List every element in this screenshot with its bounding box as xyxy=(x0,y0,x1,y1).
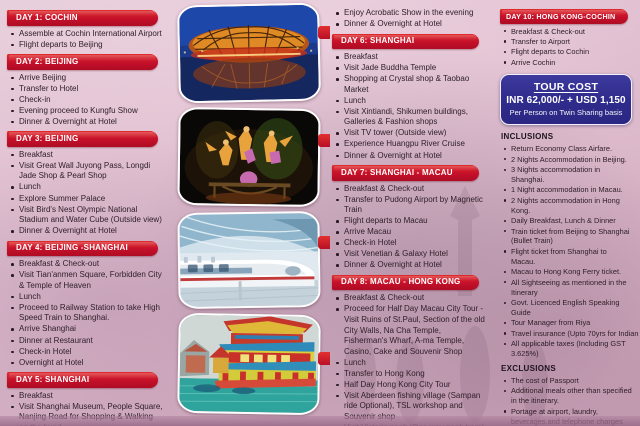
list-item: Travel insurance (Upto 70yrs for Indian … xyxy=(500,329,632,339)
list-item: Breakfast & Check-out xyxy=(500,27,632,37)
list-item: Transfer to Hotel xyxy=(6,84,164,95)
day-block: DAY 1: COCHIN Assemble at Cochin Interna… xyxy=(6,10,166,50)
list-item: Daily Breakfast, Lunch & Dinner xyxy=(500,216,632,226)
right-column: DAY 10: HONG KONG-COCHIN Breakfast & Che… xyxy=(494,0,640,426)
day-block: DAY 8: MACAU - HONG KONG Breakfast & Che… xyxy=(331,275,487,426)
day-banner: DAY 10: HONG KONG-COCHIN xyxy=(500,9,628,24)
day-banner: DAY 2: BEIJING xyxy=(7,54,158,70)
middle-column: Enjoy Acrobatic Show in the evening Dinn… xyxy=(325,0,493,426)
bottom-edge-band xyxy=(0,416,640,426)
list-item: Breakfast xyxy=(6,150,164,161)
list-item: Flight departs to Beijing xyxy=(6,40,164,51)
list-item: Arrive Macau xyxy=(331,227,485,238)
list-item: Experience Huangpu River Cruise xyxy=(331,139,485,150)
list-item: Lunch xyxy=(331,96,485,107)
list-item: Proceed for Half Day Macau City Tour - V… xyxy=(331,304,485,357)
list-item: Dinner & Overnight at Hotel xyxy=(331,19,485,30)
list-item: Breakfast xyxy=(331,52,485,63)
day-banner: DAY 3: BEIJING xyxy=(7,131,158,147)
list-item: Additional meals other than specified in… xyxy=(500,386,632,406)
list-item: Lunch xyxy=(6,292,164,303)
list-item: Transfer to Pudong Airport by Magnetic T… xyxy=(331,195,485,216)
list-item: All applicable taxes (Including GST 3.62… xyxy=(500,339,632,359)
day-item-list: Breakfast Visit Great Wall Juyong Pass, … xyxy=(6,150,164,237)
list-item: Assemble at Cochin International Airport xyxy=(6,29,164,40)
list-item: Breakfast & Check-out xyxy=(331,184,485,195)
day-banner: DAY 8: MACAU - HONG KONG xyxy=(332,275,479,291)
tour-cost-box: TOUR COST INR 62,000/- + USD 1,150 Per P… xyxy=(500,74,632,126)
list-item: Visit Bird's Nest Olympic National Stadi… xyxy=(6,205,164,226)
acrobatic-show-photo xyxy=(177,107,320,207)
day-item-list: Assemble at Cochin International Airport… xyxy=(6,29,164,51)
list-item: Check-in Hotel xyxy=(6,347,164,358)
list-item: Visit Great Wall Juyong Pass, Longdi Jad… xyxy=(6,161,164,182)
day-item-list: Arrive Beijing Transfer to Hotel Check-i… xyxy=(6,73,164,128)
itinerary-page: DAY 1: COCHIN Assemble at Cochin Interna… xyxy=(0,0,640,426)
list-item: Flight ticket from Shanghai to Macau. xyxy=(500,247,632,267)
day-block: DAY 4: BEIJING -SHANGHAI Breakfast & Che… xyxy=(6,241,166,368)
day-item-list: Breakfast & Check-out Transfer to Airpor… xyxy=(500,27,632,68)
list-item: Explore Summer Palace xyxy=(6,194,164,205)
list-item: Visit Jade Buddha Temple xyxy=(331,63,485,74)
day-item-list: Breakfast & Check-out Transfer to Pudong… xyxy=(331,184,485,271)
birds-nest-stadium-photo xyxy=(177,3,321,104)
day-item-list: Breakfast & Check-out Visit Tian'anmen S… xyxy=(6,259,164,368)
list-item: 3 Nights accommodation in Shanghai. xyxy=(500,165,632,185)
list-item: Visit TV tower (Outside view) xyxy=(331,128,485,139)
list-item: Dinner & Overnight at Hotel xyxy=(6,226,164,237)
tour-cost-price: INR 62,000/- + USD 1,150 xyxy=(506,95,626,106)
list-item: Dinner & Overnight at Hotel xyxy=(331,260,485,271)
day-block: DAY 7: SHANGHAI - MACAU Breakfast & Chec… xyxy=(331,165,487,271)
tour-cost-note: Per Person on Twin Sharing basis xyxy=(506,108,626,117)
day-banner: DAY 6: SHANGHAI xyxy=(332,34,479,50)
list-item: Half Day Hong Kong City Tour xyxy=(331,380,485,391)
list-item: Lunch xyxy=(6,182,164,193)
inclusions-title: INCLUSIONS xyxy=(501,132,634,141)
list-item: Return Economy Class Airfare. xyxy=(500,144,632,154)
list-item: Train ticket from Beijing to Shanghai (B… xyxy=(500,227,632,247)
list-item: Tour Manager from Riya xyxy=(500,318,632,328)
list-item: Dinner at Restaurant xyxy=(6,336,164,347)
list-item: Lunch xyxy=(331,358,485,369)
day-banner: DAY 1: COCHIN xyxy=(7,10,158,26)
list-item: 2 Nights Accommodation in Beijing. xyxy=(500,155,632,165)
list-item: Govt. Licenced English Speaking Guide xyxy=(500,298,632,318)
jumbo-floating-restaurant-photo xyxy=(177,313,321,415)
bullet-train-photo xyxy=(177,211,320,309)
list-item: Transfer to Airport xyxy=(500,37,632,47)
list-item: Check-in Hotel xyxy=(331,238,485,249)
tour-cost-title: TOUR COST xyxy=(506,81,626,93)
day-banner: DAY 4: BEIJING -SHANGHAI xyxy=(7,241,158,257)
list-item: Visit Tian'anmen Square, Forbidden City … xyxy=(6,270,164,291)
day-block: DAY 6: SHANGHAI Breakfast Visit Jade Bud… xyxy=(331,34,487,161)
inclusions-list: Return Economy Class Airfare. 2 Nights A… xyxy=(500,144,632,359)
photo-strip xyxy=(174,0,326,426)
list-item: Arrive Beijing xyxy=(6,73,164,84)
exclusions-title: EXCLUSIONS xyxy=(501,364,634,373)
day-block: DAY 2: BEIJING Arrive Beijing Transfer t… xyxy=(6,54,166,127)
list-item: The cost of Passport xyxy=(500,376,632,386)
list-item: Enjoy Acrobatic Show in the evening xyxy=(331,8,485,19)
list-item: Breakfast & Check-out xyxy=(6,259,164,270)
list-item: Flight departs to Macau xyxy=(331,216,485,227)
list-item: Breakfast & Check-out xyxy=(331,293,485,304)
day-banner: DAY 5: SHANGHAI xyxy=(7,372,158,388)
day-item-list: Breakfast Visit Jade Buddha Temple Shopp… xyxy=(331,52,485,161)
list-item: Check-in xyxy=(6,95,164,106)
list-item: Evening proceed to Kungfu Show xyxy=(6,106,164,117)
list-item: 2 Nights accommodation in Hong Kong. xyxy=(500,196,632,216)
list-item: Arrive Cochin xyxy=(500,58,632,68)
list-item: Overnight at Hotel xyxy=(6,358,164,369)
day-block: DAY 10: HONG KONG-COCHIN Breakfast & Che… xyxy=(500,9,634,68)
list-item: Visit Venetian & Galaxy Hotel xyxy=(331,249,485,260)
list-item: Arrive Shanghai xyxy=(6,324,164,335)
day-item-list: Breakfast & Check-out Proceed for Half D… xyxy=(331,293,485,426)
list-item: Dinner & Overnight at Hotel xyxy=(331,151,485,162)
list-item: 1 Night accommodation in Macau. xyxy=(500,185,632,195)
list-item: Breakfast xyxy=(6,391,164,402)
day-block: DAY 3: BEIJING Breakfast Visit Great Wal… xyxy=(6,131,166,236)
list-item: Visit Xintiandi, Shikumen buildings, Gal… xyxy=(331,107,485,128)
day5-continued-list: Enjoy Acrobatic Show in the evening Dinn… xyxy=(331,8,485,30)
list-item: All Sightseeing as mentioned in the Itin… xyxy=(500,278,632,298)
left-column: DAY 1: COCHIN Assemble at Cochin Interna… xyxy=(0,0,172,426)
list-item: Proceed to Railway Station to take High … xyxy=(6,303,164,324)
list-item: Macau to Hong Kong Ferry ticket. xyxy=(500,267,632,277)
list-item: Transfer to Hong Kong xyxy=(331,369,485,380)
list-item: Flight departs to Cochin xyxy=(500,47,632,57)
day-banner: DAY 7: SHANGHAI - MACAU xyxy=(332,165,479,181)
list-item: Dinner & Overnight at Hotel xyxy=(6,117,164,128)
list-item: Shopping at Crystal shop & Taobao Market xyxy=(331,74,485,95)
